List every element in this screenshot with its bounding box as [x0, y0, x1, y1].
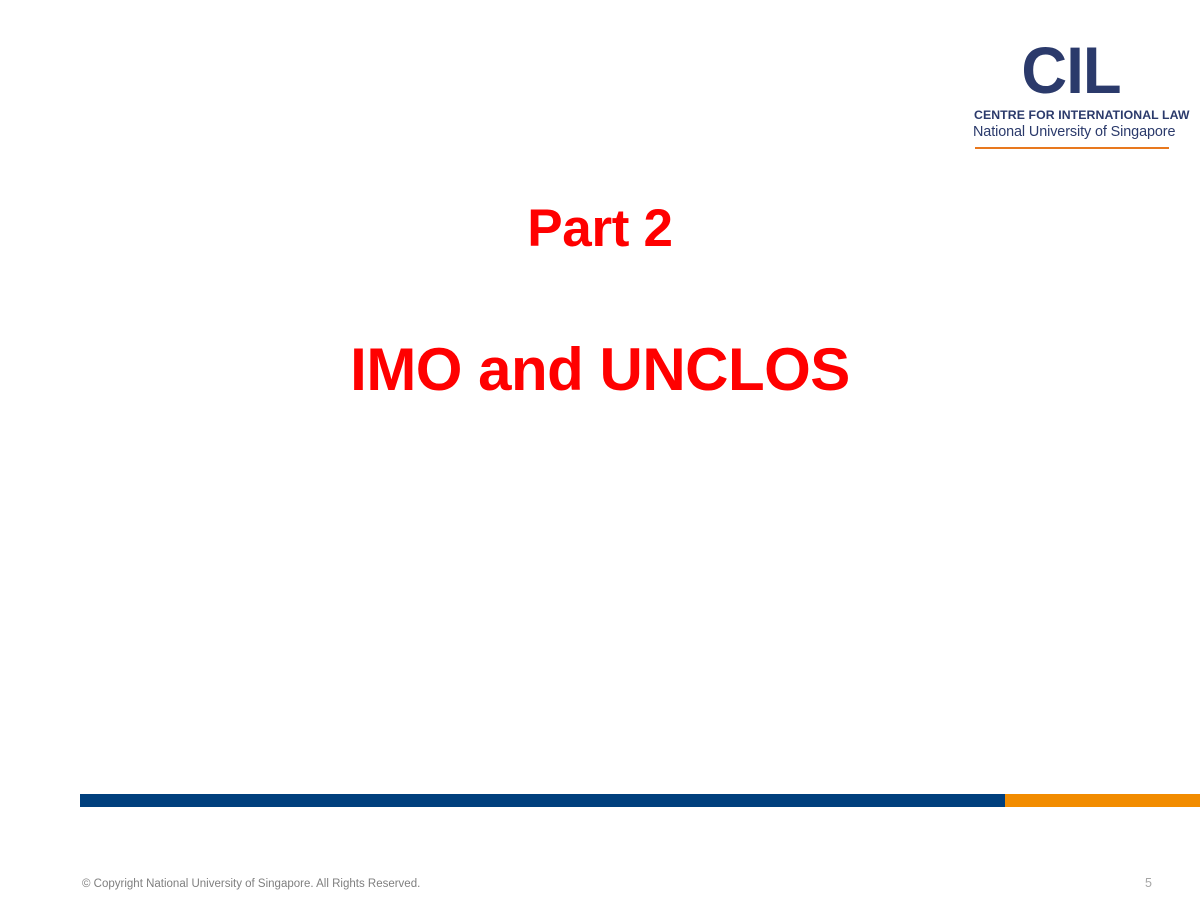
- accent-bar-navy-segment: [80, 794, 1005, 807]
- accent-bar-orange-segment: [1005, 794, 1200, 807]
- cil-logo-tagline-primary: CENTRE FOR INTERNATIONAL LAW: [974, 108, 1170, 122]
- slide-canvas: CIL CENTRE FOR INTERNATIONAL LAW Nationa…: [0, 0, 1200, 900]
- page-title: IMO and UNCLOS: [0, 337, 1200, 403]
- bottom-accent-bar: [80, 794, 1200, 807]
- part-label: Part 2: [0, 200, 1200, 258]
- title-block: Part 2 IMO and UNCLOS: [0, 200, 1200, 403]
- title-spacer: [0, 258, 1200, 337]
- cil-logo-tagline-secondary: National University of Singapore: [973, 124, 1171, 140]
- footer: © Copyright National University of Singa…: [82, 876, 1152, 890]
- copyright-notice: © Copyright National University of Singa…: [82, 878, 420, 890]
- cil-wordmark: CIL: [977, 40, 1167, 101]
- page-number: 5: [1145, 876, 1152, 890]
- logo-orange-rule: [975, 147, 1169, 150]
- cil-logo: CIL CENTRE FOR INTERNATIONAL LAW Nationa…: [973, 40, 1171, 149]
